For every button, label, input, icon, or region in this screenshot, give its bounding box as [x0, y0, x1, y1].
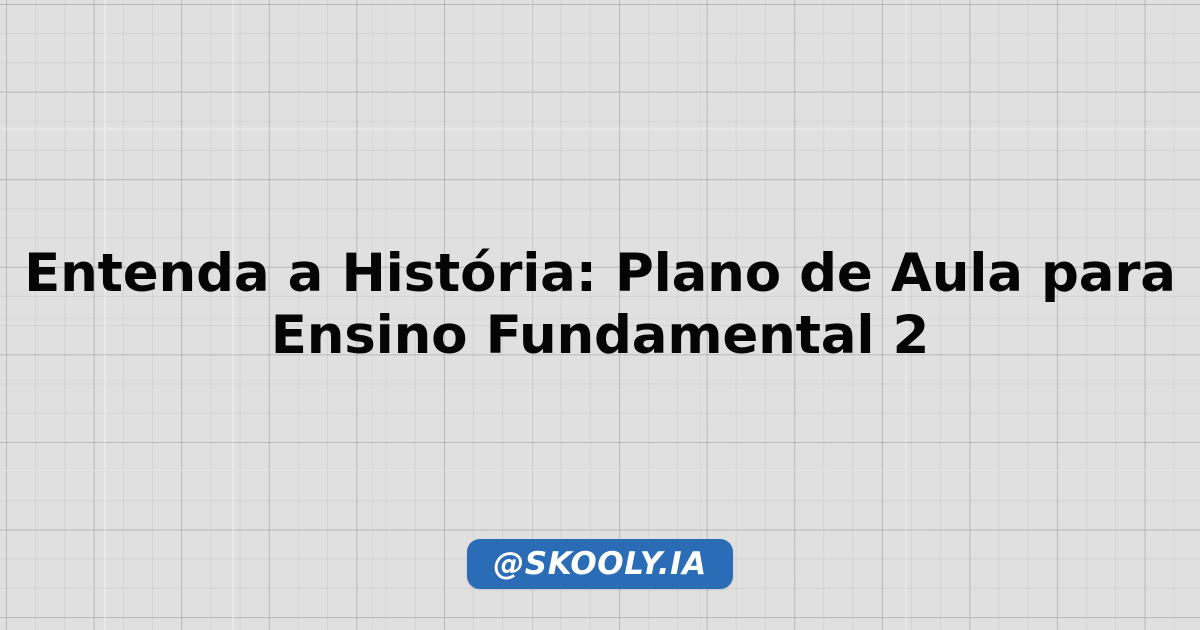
page-title: Entenda a História: Plano de Aula para E…	[2, 243, 1198, 367]
title-block: Entenda a História: Plano de Aula para E…	[2, 243, 1198, 367]
social-banner: Entenda a História: Plano de Aula para E…	[0, 0, 1200, 630]
brand-handle-label: @SKOOLY.IA	[493, 549, 707, 580]
handle-badge-row: @SKOOLY.IA	[0, 539, 1200, 589]
brand-handle-badge[interactable]: @SKOOLY.IA	[467, 539, 733, 589]
